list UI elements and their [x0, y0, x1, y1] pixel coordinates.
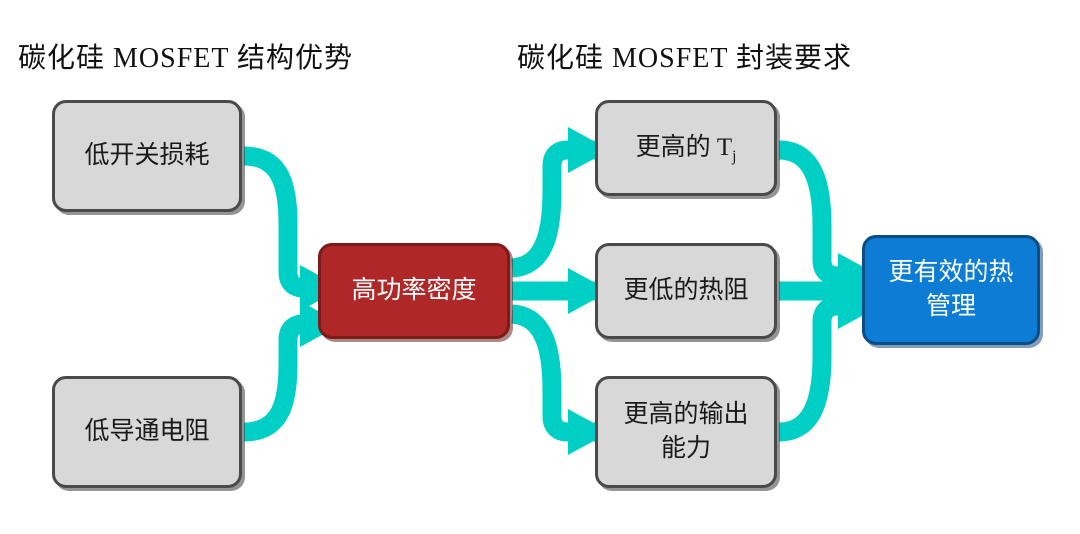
node-lower-thermal-resistance[interactable]: 更低的热阻: [595, 243, 777, 339]
node-low-on-resistance[interactable]: 低导通电阻: [52, 376, 242, 488]
node-label: 高功率密度: [351, 274, 476, 308]
node-better-thermal-management[interactable]: 更有效的热 管理: [862, 235, 1040, 345]
node-low-switching-loss[interactable]: 低开关损耗: [52, 100, 242, 212]
node-label: 低开关损耗: [84, 139, 209, 173]
diagram-canvas: 碳化硅 MOSFET 结构优势 碳化硅 MOSFET 封装要求: [0, 0, 1080, 534]
node-high-power-density[interactable]: 高功率密度: [318, 243, 510, 339]
node-label-line2: 管理: [888, 290, 1013, 324]
node-label-line2: 能力: [623, 432, 748, 466]
node-label-line1: 更有效的热: [888, 256, 1013, 290]
node-higher-output-capability[interactable]: 更高的输出 能力: [595, 376, 777, 488]
node-label: 更低的热阻: [623, 274, 748, 308]
node-label: 低导通电阻: [84, 415, 209, 449]
node-label: 更高的 Tj: [636, 131, 737, 165]
node-label-line1: 更高的输出: [623, 398, 748, 432]
node-label-block: 更有效的热 管理: [888, 256, 1013, 324]
node-label-subscript: j: [732, 148, 736, 165]
node-label-main: 更高的 T: [636, 134, 733, 161]
node-higher-tj[interactable]: 更高的 Tj: [595, 100, 777, 196]
node-label-block: 更高的输出 能力: [623, 398, 748, 466]
